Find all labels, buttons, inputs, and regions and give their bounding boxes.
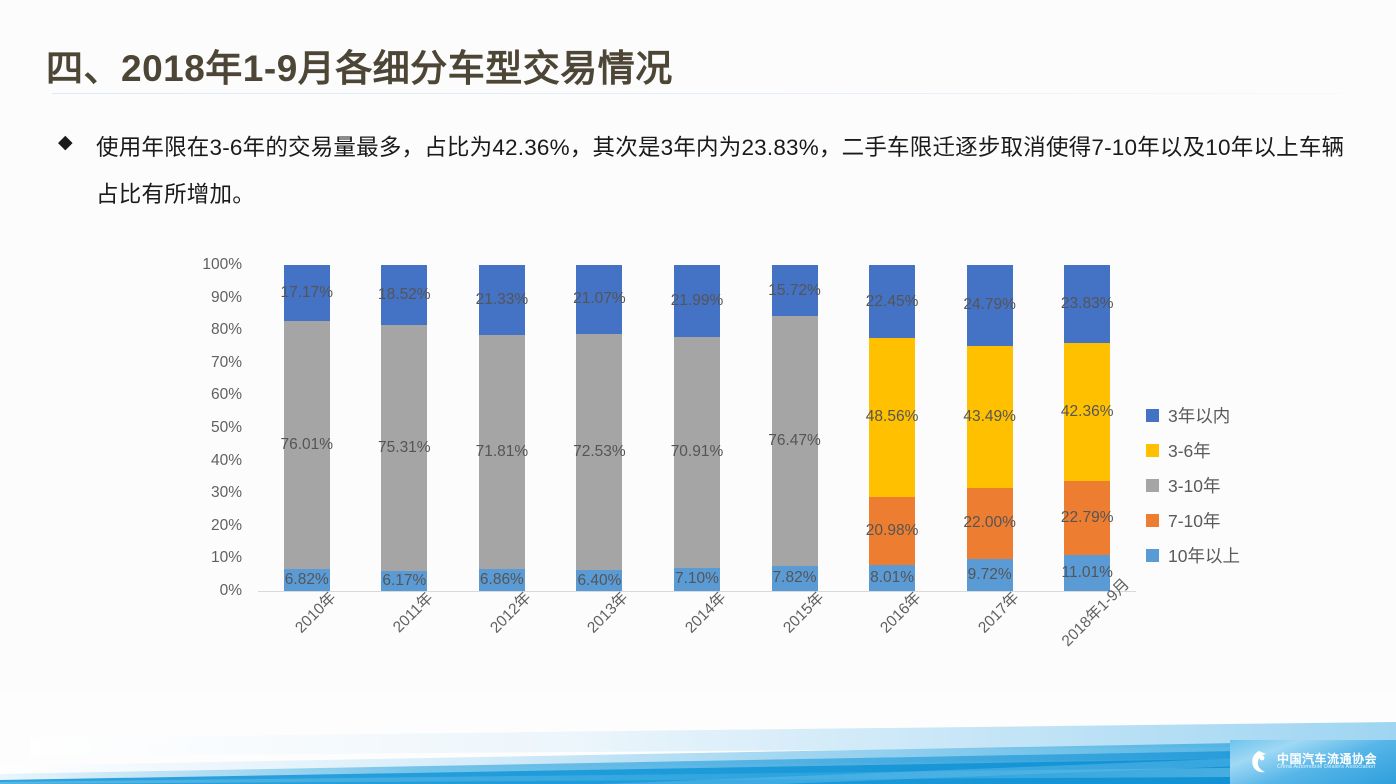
bar-segment[interactable]: 22.79% [1064,481,1110,555]
y-axis-tick: 100% [190,256,242,274]
x-axis-tick-label: 2012年 [484,586,535,637]
legend-item[interactable]: 7-10年 [1146,503,1240,538]
bar-slot: 8.01%20.98%48.56%22.45% [843,265,941,591]
x-axis-tick: 2018年1-9月 [1038,604,1136,626]
x-axis-tick-label: 2013年 [582,586,633,637]
legend-swatch-icon [1146,549,1159,562]
bar-segment[interactable]: 9.72% [967,559,1013,591]
legend-swatch-icon [1146,444,1159,457]
bullet-paragraph: 使用年限在3-6年的交易量最多，占比为42.36%，其次是3年内为23.83%，… [96,124,1358,218]
bar-segment[interactable]: 21.07% [576,265,622,334]
title-divider [52,93,1342,94]
logo-emblem-svg [1246,749,1272,775]
bar-slot: 7.82%76.47%15.72% [746,265,844,591]
logo-text-block: 中国汽车流通协会 China Automobile Dealers Associ… [1277,753,1377,771]
bar-segment[interactable]: 72.53% [576,334,622,570]
x-axis-tick-label: 2017年 [972,586,1023,637]
bar-segment[interactable]: 70.91% [674,337,720,568]
bar-slot: 11.01%22.79%42.36%23.83% [1038,265,1136,591]
bar-segment-label: 72.53% [549,443,649,461]
bar-segment[interactable]: 15.72% [772,265,818,316]
x-axis-tick-label: 2015年 [777,586,828,637]
x-axis-tick: 2010年 [258,604,356,626]
bar-slot: 6.40%72.53%21.07% [551,265,649,591]
bar-segment-label: 21.07% [549,290,649,308]
bar-segment-label: 18.52% [354,286,454,304]
x-axis-tick-label: 2011年 [387,587,437,637]
bar-segment[interactable]: 75.31% [381,325,427,571]
legend-item-label: 3-6年 [1168,438,1211,463]
bar-segment[interactable]: 48.56% [869,338,915,496]
bar-segment-label: 70.91% [647,443,747,461]
x-axis-tick-label: 2014年 [679,586,730,637]
y-axis-tick: 30% [190,484,242,502]
bar-segment-label: 76.47% [745,432,845,450]
bullet-block: ◆ 使用年限在3-6年的交易量最多，占比为42.36%，其次是3年内为23.83… [58,124,1358,218]
legend-swatch-icon [1146,479,1159,492]
bar-segment-label: 15.72% [745,282,845,300]
bar-segment-label: 6.82% [257,571,357,589]
bar-segment[interactable]: 43.49% [967,346,1013,488]
y-axis-tick: 0% [190,582,242,600]
legend-item[interactable]: 3年以内 [1146,398,1240,433]
bar-slot: 6.82%76.01%17.17% [258,265,356,591]
y-axis-tick: 80% [190,321,242,339]
bar-segment[interactable]: 24.79% [967,265,1013,346]
bar-segment[interactable]: 22.45% [869,265,915,338]
slide-canvas: 四、2018年1-9月各细分车型交易情况 ◆ 使用年限在3-6年的交易量最多，占… [0,0,1396,784]
bar-segment-label: 24.79% [940,296,1040,314]
y-axis-tick: 40% [190,452,242,470]
stacked-bar[interactable]: 6.17%75.31%18.52% [381,265,427,591]
bar-slot: 7.10%70.91%21.99% [648,265,746,591]
bar-segment-label: 21.99% [647,292,747,310]
bar-slot: 6.17%75.31%18.52% [356,265,454,591]
bar-segment-label: 22.79% [1037,509,1137,527]
x-axis-tick-label: 2010年 [289,586,340,637]
x-axis-tick-label: 2016年 [874,586,925,637]
x-axis-tick: 2013年 [551,604,649,626]
bar-segment[interactable]: 18.52% [381,265,427,325]
bar-segment[interactable]: 21.99% [674,265,720,337]
bar-slot: 6.86%71.81%21.33% [453,265,551,591]
bar-segment[interactable]: 20.98% [869,497,915,565]
chart-legend: 3年以内3-6年3-10年7-10年10年以上 [1146,398,1240,573]
legend-item-label: 10年以上 [1168,543,1240,568]
bar-segment-label: 17.17% [257,284,357,302]
legend-swatch-icon [1146,514,1159,527]
x-axis-tick: 2012年 [453,604,551,626]
legend-item-label: 3-10年 [1168,473,1221,498]
y-axis-tick: 90% [190,289,242,307]
stacked-bar[interactable]: 11.01%22.79%42.36%23.83% [1064,265,1110,591]
bar-segment-label: 42.36% [1037,403,1137,421]
y-axis-tick: 20% [190,517,242,535]
bar-segment-label: 21.33% [452,291,552,309]
bar-segment-label: 75.31% [354,439,454,457]
bar-segment-label: 43.49% [940,408,1040,426]
stacked-bar-chart: 100%90%80%70%60%50%40%30%20%10%0% 6.82%7… [196,248,1196,668]
bar-slot: 9.72%22.00%43.49%24.79% [941,265,1039,591]
legend-swatch-icon [1146,409,1159,422]
stacked-bar[interactable]: 7.82%76.47%15.72% [772,265,818,591]
bar-segment-label: 8.01% [842,569,942,587]
bar-segment[interactable]: 17.17% [284,265,330,321]
legend-item-label: 7-10年 [1168,508,1221,533]
stacked-bar[interactable]: 6.86%71.81%21.33% [479,265,525,591]
bar-segment-label: 6.86% [452,571,552,589]
x-axis-tick: 2016年 [843,604,941,626]
bar-segment-label: 6.17% [354,572,454,590]
logo-emblem-icon [1246,749,1272,775]
x-axis: 2010年2011年2012年2013年2014年2015年2016年2017年… [258,598,1136,678]
bar-segment-label: 71.81% [452,443,552,461]
ribbon-svg [0,694,1396,784]
bar-segment-label: 7.82% [745,569,845,587]
stacked-bar[interactable]: 6.82%76.01%17.17% [284,265,330,591]
y-axis-tick: 60% [190,386,242,404]
bar-segment-label: 76.01% [257,436,357,454]
footer-ribbon-graphic [0,694,1396,784]
legend-item-label: 3年以内 [1168,403,1230,428]
y-axis-tick: 50% [190,419,242,437]
x-axis-tick: 2017年 [941,604,1039,626]
bullet-diamond-icon: ◆ [58,133,73,152]
bar-segment-label: 23.83% [1037,295,1137,313]
bar-segment-label: 48.56% [842,408,942,426]
y-axis: 100%90%80%70%60%50%40%30%20%10%0% [196,248,248,588]
plot-area: 6.82%76.01%17.17%6.17%75.31%18.52%6.86%7… [258,265,1136,591]
logo-content: 中国汽车流通协会 China Automobile Dealers Associ… [1230,740,1396,784]
bar-segment[interactable]: 76.01% [284,321,330,569]
bar-segment[interactable]: 22.00% [967,488,1013,560]
bar-segment[interactable]: 11.01% [1064,555,1110,591]
bar-segment[interactable]: 23.83% [1064,265,1110,343]
x-axis-tick: 2015年 [746,604,844,626]
legend-item[interactable]: 3-6年 [1146,433,1240,468]
bar-segment[interactable]: 71.81% [479,335,525,569]
bar-segment-label: 20.98% [842,522,942,540]
stacked-bar[interactable]: 6.40%72.53%21.07% [576,265,622,591]
stacked-bar[interactable]: 8.01%20.98%48.56%22.45% [869,265,915,591]
stacked-bar[interactable]: 9.72%22.00%43.49%24.79% [967,265,1013,591]
bar-segment-label: 7.10% [647,570,747,588]
y-axis-tick: 10% [190,549,242,567]
bar-segment[interactable]: 21.33% [479,265,525,335]
bar-segment[interactable]: 76.47% [772,316,818,565]
x-axis-tick: 2011年 [356,604,454,626]
legend-item[interactable]: 3-10年 [1146,468,1240,503]
bar-segment-label: 9.72% [940,566,1040,584]
bar-segment[interactable]: 42.36% [1064,343,1110,481]
bar-segment-label: 22.00% [940,514,1040,532]
legend-item[interactable]: 10年以上 [1146,538,1240,573]
bar-segment-label: 6.40% [549,572,649,590]
stacked-bar[interactable]: 7.10%70.91%21.99% [674,265,720,591]
x-axis-tick: 2014年 [648,604,746,626]
page-title: 四、2018年1-9月各细分车型交易情况 [46,38,673,92]
association-logo: 中国汽车流通协会 China Automobile Dealers Associ… [1230,740,1396,784]
y-axis-tick: 70% [190,354,242,372]
bar-segment-label: 22.45% [842,293,942,311]
logo-name-en: China Automobile Dealers Association [1277,765,1377,771]
